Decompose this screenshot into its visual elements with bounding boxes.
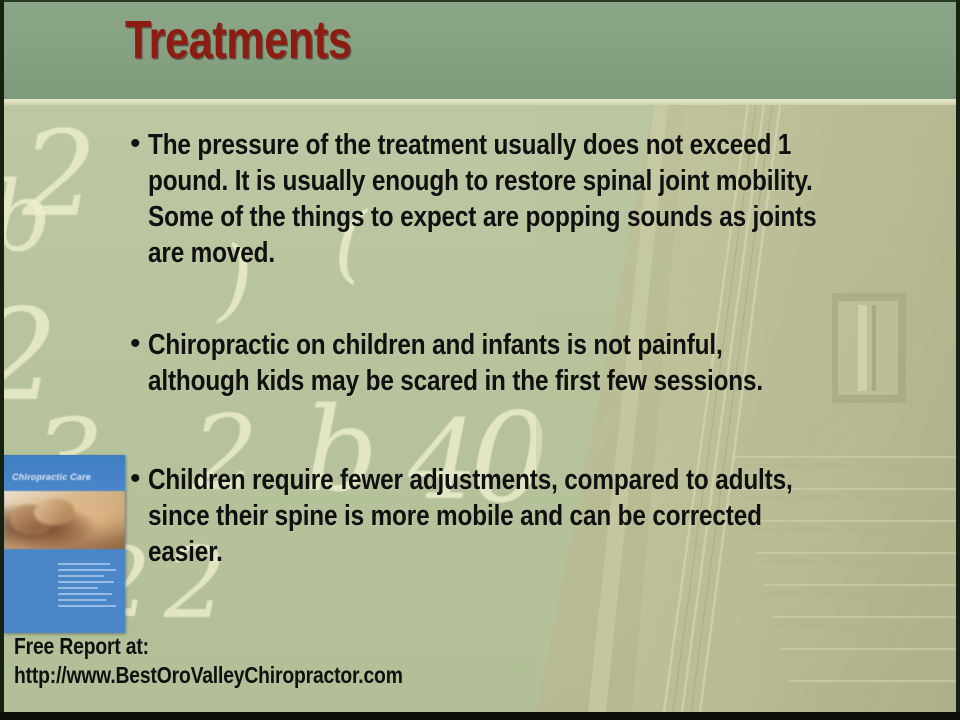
thumbnail-text-line	[58, 587, 98, 589]
thumbnail-text-line	[58, 593, 112, 595]
list-item: • Chiropractic on children and infants i…	[122, 327, 952, 399]
report-cover-thumbnail: Chiropractic Care	[4, 455, 125, 633]
footer-label: Free Report at:	[14, 632, 654, 661]
page-title: Treatments	[125, 13, 352, 67]
bullet-marker-icon: •	[122, 327, 148, 361]
bullet-marker-icon: •	[122, 127, 148, 161]
frame-edge-right	[956, 0, 960, 720]
thumbnail-body-lines	[58, 563, 118, 611]
thumbnail-photo-hands	[4, 491, 125, 549]
frame-edge-bottom	[0, 712, 960, 720]
thumbnail-text-line	[58, 605, 116, 607]
footer-url: http://www.BestOroValleyChiropractor.com	[14, 661, 654, 690]
handwriting-watermark-1: b	[4, 169, 51, 265]
slide-canvas: Treatments 2 b 2 3 2 b 4 0 2 ) ( 2	[4, 0, 956, 712]
bullet-text: The pressure of the treatment usually do…	[148, 127, 823, 271]
list-item: • The pressure of the treatment usually …	[122, 127, 952, 271]
thumbnail-text-line	[58, 563, 110, 565]
presentation-slide: Treatments 2 b 2 3 2 b 4 0 2 ) ( 2	[0, 0, 960, 720]
handwriting-watermark-2: 2	[4, 293, 58, 419]
thumbnail-text-line	[58, 581, 114, 583]
list-item: • Children require fewer adjustments, co…	[122, 462, 952, 570]
frame-edge-left	[0, 0, 4, 720]
thumbnail-title: Chiropractic Care	[12, 472, 91, 482]
thumbnail-text-line	[58, 569, 116, 571]
thumbnail-text-line	[58, 599, 106, 601]
bullet-marker-icon: •	[122, 462, 148, 496]
frame-edge-top	[0, 0, 960, 2]
bullet-text: Children require fewer adjustments, comp…	[148, 462, 823, 570]
handwriting-watermark-0: 2	[22, 115, 97, 233]
bullet-text: Chiropractic on children and infants is …	[148, 327, 823, 399]
footer: Free Report at: http://www.BestOroValley…	[14, 632, 654, 690]
slide-body: 2 b 2 3 2 b 4 0 2 ) ( 2	[4, 105, 956, 712]
thumbnail-text-line	[58, 575, 104, 577]
